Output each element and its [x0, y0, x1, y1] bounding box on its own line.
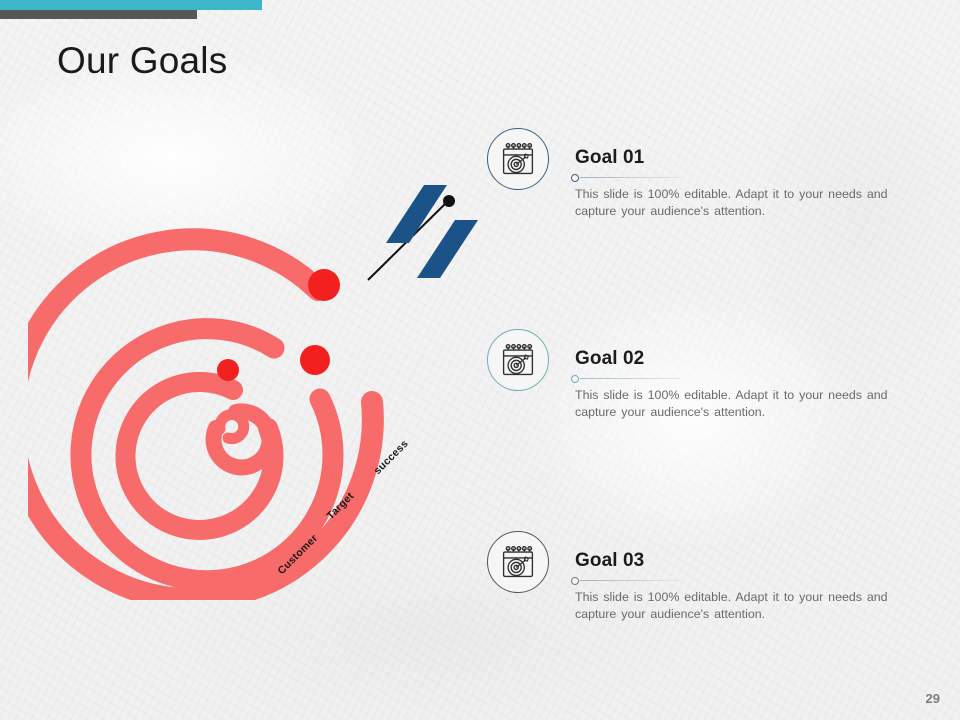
- arrow-fletching-upper: [386, 185, 447, 243]
- calendar-target-icon: [500, 342, 536, 378]
- target-dot-middle: [300, 345, 330, 375]
- goal-item-1[interactable]: Goal 01 This slide is 100% editable. Ada…: [487, 128, 917, 278]
- arrow-nock-dot: [443, 195, 455, 207]
- goal-3-title: Goal 03: [575, 550, 644, 572]
- goal-item-2[interactable]: Goal 02 This slide is 100% editable. Ada…: [487, 329, 917, 479]
- spiral-target-svg: [28, 180, 488, 600]
- goal-3-connector-line: [580, 580, 680, 581]
- goal-1-connector-dot: [571, 174, 579, 182]
- goal-3-connector: [571, 575, 681, 586]
- target-dot-outer: [308, 269, 340, 301]
- arrow-fletching-lower: [417, 220, 478, 278]
- goal-1-icon-circle: [487, 128, 549, 190]
- goal-2-title: Goal 02: [575, 348, 644, 370]
- goal-1-connector-line: [580, 177, 680, 178]
- top-accent-bar-gray: [0, 10, 197, 19]
- top-accent-bar-teal: [0, 0, 262, 10]
- goal-3-description: This slide is 100% editable. Adapt it to…: [575, 589, 905, 622]
- goal-item-3[interactable]: Goal 03 This slide is 100% editable. Ada…: [487, 531, 917, 681]
- goal-2-connector-line: [580, 378, 680, 379]
- calendar-target-icon: [500, 141, 536, 177]
- goal-2-icon-circle: [487, 329, 549, 391]
- goal-1-connector: [571, 172, 681, 183]
- calendar-target-icon: [500, 544, 536, 580]
- goal-3-icon-circle: [487, 531, 549, 593]
- goal-3-connector-dot: [571, 577, 579, 585]
- goal-1-title: Goal 01: [575, 147, 644, 169]
- goal-2-description: This slide is 100% editable. Adapt it to…: [575, 387, 905, 420]
- spiral-target-illustration: Customer Target success: [28, 180, 488, 600]
- goal-2-connector-dot: [571, 375, 579, 383]
- goal-1-description: This slide is 100% editable. Adapt it to…: [575, 186, 905, 219]
- page-title: Our Goals: [57, 40, 227, 82]
- page-number: 29: [926, 691, 940, 706]
- goal-2-connector: [571, 373, 681, 384]
- target-dot-inner: [217, 359, 239, 381]
